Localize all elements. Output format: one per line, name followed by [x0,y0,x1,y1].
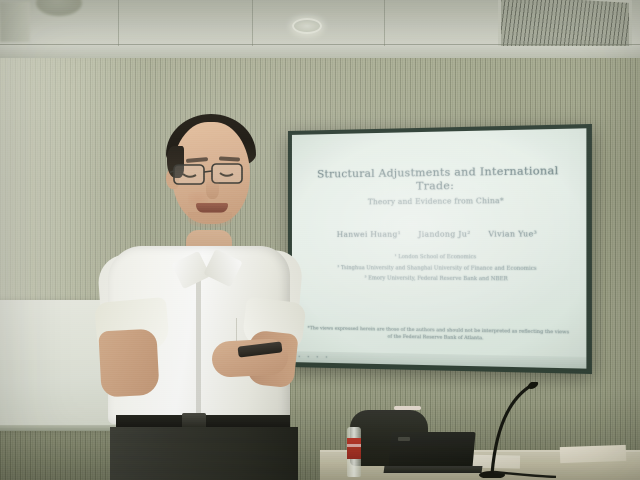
nose [206,177,219,199]
speaker-figure [0,0,640,480]
chin [188,212,232,228]
teeth [394,406,421,410]
lecture-photo-scene: Structural Adjustments and International… [0,0,640,480]
shirt-placket [196,268,201,418]
trousers [110,427,298,480]
arm-left [98,329,159,398]
